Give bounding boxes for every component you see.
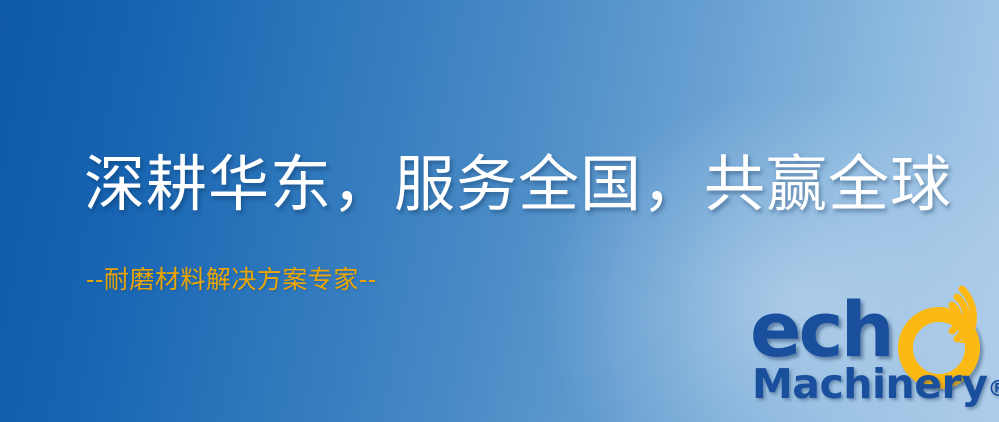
promotional-banner: 深耕华东，服务全国，共赢全球 --耐磨材料解决方案专家-- ech Machin… <box>0 0 999 422</box>
banner-headline: 深耕华东，服务全国，共赢全球 <box>84 152 952 218</box>
logo-echo-text: ech <box>750 292 892 368</box>
logo-company-text: Machinery <box>752 360 987 408</box>
banner-subtitle: --耐磨材料解决方案专家-- <box>86 266 377 294</box>
registered-trademark-icon: ® <box>987 377 999 402</box>
echo-waves-icon <box>942 285 998 343</box>
company-logo: ech Machinery® <box>748 296 993 422</box>
logo-company-name: Machinery® <box>752 364 999 405</box>
